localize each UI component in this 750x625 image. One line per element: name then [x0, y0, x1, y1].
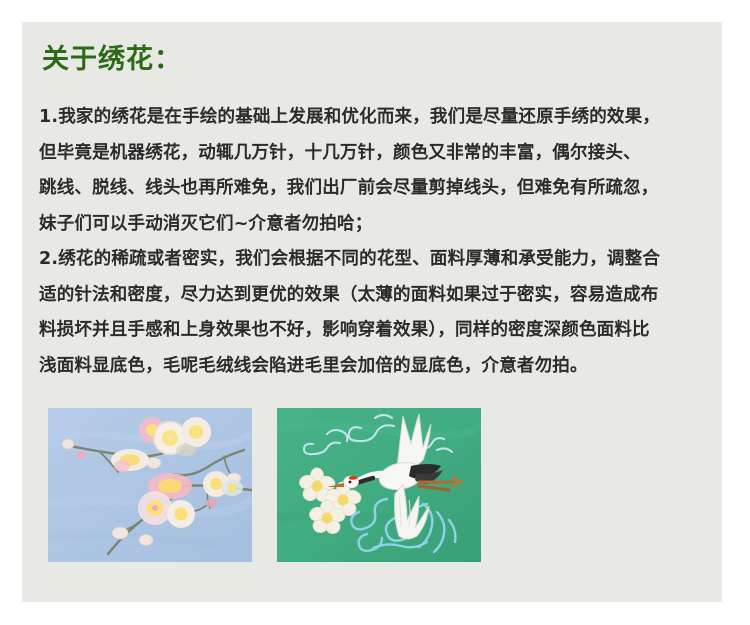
body-line: 妹子们可以手动消灭它们~介意者勿拍哈； [39, 207, 709, 243]
page-root: 关于绣花： 1.我家的绣花是在手绘的基础上发展和优化而来，我们是尽量还原手绣的效… [0, 0, 750, 625]
photo-strip [48, 408, 708, 568]
body-line: 1.我家的绣花是在手绘的基础上发展和优化而来，我们是尽量还原手绣的效果， [39, 100, 709, 136]
crane-artwork [277, 408, 481, 562]
body-line: 料损坏并且手感和上身效果也不好，影响穿着效果），同样的密度深颜色面料比 [39, 313, 709, 349]
plum-blossom-artwork [48, 408, 252, 562]
green-crane-embroidery-photo [277, 408, 481, 562]
body-line: 适的针法和密度，尽力达到更优的效果（太薄的面料如果过于密实，容易造成布 [39, 278, 709, 314]
body-line: 浅面料显底色，毛呢毛绒线会陷进毛里会加倍的显底色，介意者勿拍。 [39, 349, 709, 385]
body-line: 跳线、脱线、线头也再所难免，我们出厂前会尽量剪掉线头，但难免有所疏忽， [39, 171, 709, 207]
embroidery-info-panel: 关于绣花： 1.我家的绣花是在手绘的基础上发展和优化而来，我们是尽量还原手绣的效… [22, 22, 722, 602]
body-line: 但毕竟是机器绣花，动辄几万针，十几万针，颜色又非常的丰富，偶尔接头、 [39, 136, 709, 172]
page-title: 关于绣花： [42, 44, 182, 76]
blue-plum-blossom-embroidery-photo [48, 408, 252, 562]
body-copy: 1.我家的绣花是在手绘的基础上发展和优化而来，我们是尽量还原手绣的效果， 但毕竟… [39, 100, 709, 384]
body-line: 2.绣花的稀疏或者密实，我们会根据不同的花型、面料厚薄和承受能力，调整合 [39, 242, 709, 278]
